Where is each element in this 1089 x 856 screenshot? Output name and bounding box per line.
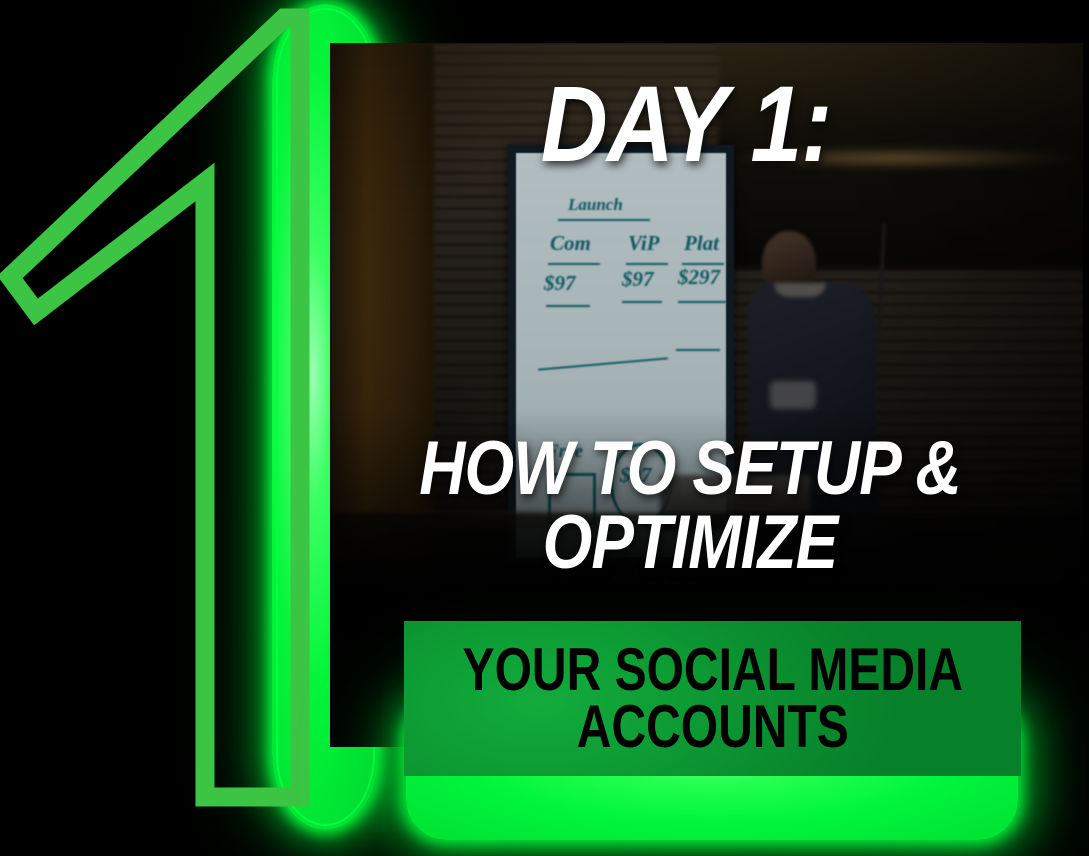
slide-canvas: Launch Com ViP Plat $97 $97 $297 Free (0, 0, 1089, 856)
cta-line-2: ACCOUNTS (462, 699, 962, 755)
cta-banner: YOUR SOCIAL MEDIA ACCOUNTS (404, 621, 1021, 776)
cta-text: YOUR SOCIAL MEDIA ACCOUNTS (462, 642, 962, 755)
